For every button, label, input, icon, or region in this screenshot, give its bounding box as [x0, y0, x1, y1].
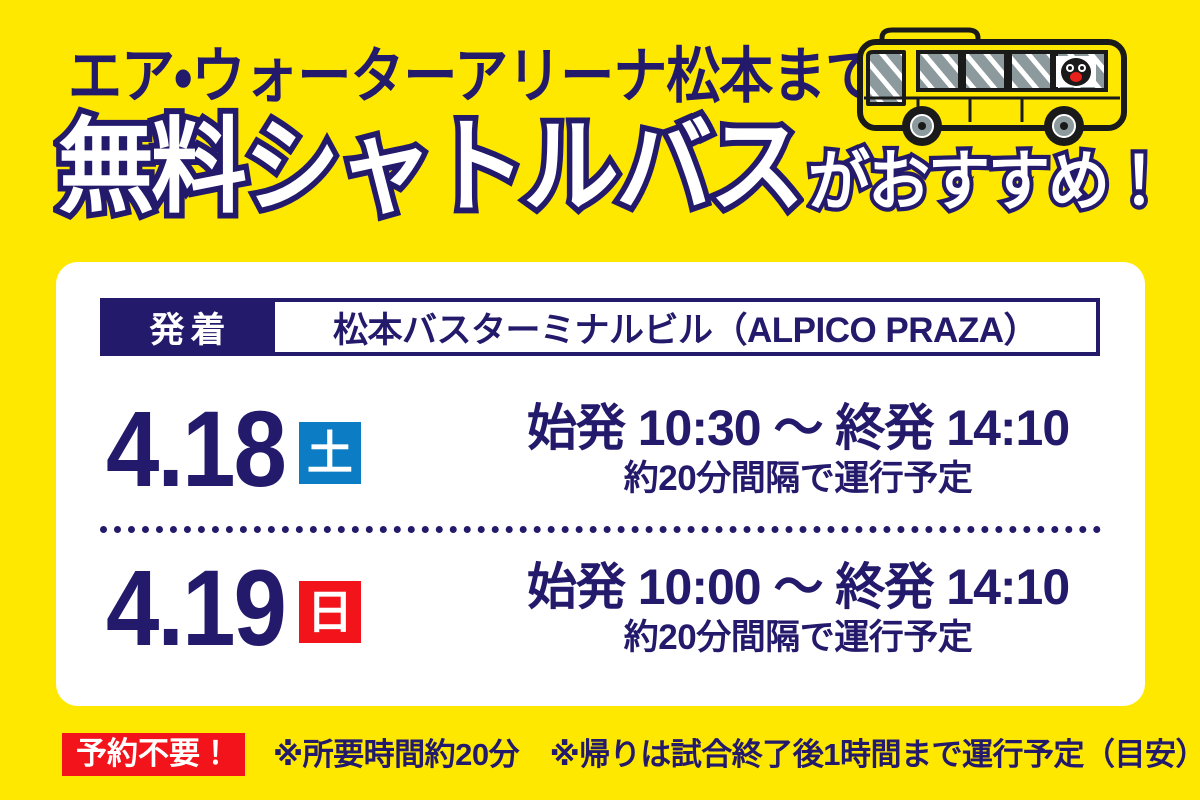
day-badge-saturday: 土 — [299, 422, 361, 484]
bus-mascot-icon — [1056, 56, 1096, 87]
date-number: 4.19 — [106, 560, 285, 659]
date-cell: 4.19 日 — [98, 565, 503, 653]
time-cell: 始発 10:00 〜 終発 14:10 約20分間隔で運行予定 — [503, 559, 1103, 659]
headline-suffix-text: がおすすめ！ — [808, 150, 1168, 220]
departure-location: 松本バスターミナルビル（ALPICO PRAZA） — [275, 298, 1100, 356]
no-reservation-badge: 予約不要！ — [62, 733, 245, 776]
departure-row: 発着 松本バスターミナルビル（ALPICO PRAZA） — [100, 298, 1100, 356]
date-cell: 4.18 土 — [98, 406, 503, 494]
time-interval-note: 約20分間隔で運行予定 — [503, 617, 1093, 659]
time-range: 始発 10:00 〜 終発 14:10 — [503, 559, 1093, 615]
time-cell: 始発 10:30 〜 終発 14:10 約20分間隔で運行予定 — [503, 400, 1103, 500]
date-number: 4.18 — [106, 401, 285, 500]
shuttle-bus-poster: エア・ウォーターアリーナ松本までは 無料シャトルバス がおすすめ！ — [0, 0, 1200, 800]
time-interval-note: 約20分間隔で運行予定 — [503, 458, 1093, 500]
headline-main-text: 無料シャトルバス — [58, 116, 802, 220]
schedule-row: 4.18 土 始発 10:30 〜 終発 14:10 約20分間隔で運行予定 — [56, 374, 1145, 526]
schedule-row: 4.19 日 始発 10:00 〜 終発 14:10 約20分間隔で運行予定 — [56, 533, 1145, 685]
headline-line-1: エア・ウォーターアリーナ松本までは — [68, 46, 931, 106]
departure-tag: 発着 — [100, 298, 275, 356]
day-badge-sunday: 日 — [299, 581, 361, 643]
footer-note-text: ※所要時間約20分 ※帰りは試合終了後1時間まで運行予定（目安） — [273, 739, 1200, 770]
schedule-card: 発着 松本バスターミナルビル（ALPICO PRAZA） 4.18 土 始発 1… — [56, 262, 1145, 706]
footer-notes: 予約不要！ ※所要時間約20分 ※帰りは試合終了後1時間まで運行予定（目安） — [0, 726, 1200, 782]
schedule-list: 4.18 土 始発 10:30 〜 終発 14:10 約20分間隔で運行予定 4… — [56, 374, 1145, 685]
time-range: 始発 10:30 〜 終発 14:10 — [503, 400, 1093, 456]
row-divider — [100, 526, 1101, 533]
shuttle-bus-icon — [852, 22, 1134, 150]
